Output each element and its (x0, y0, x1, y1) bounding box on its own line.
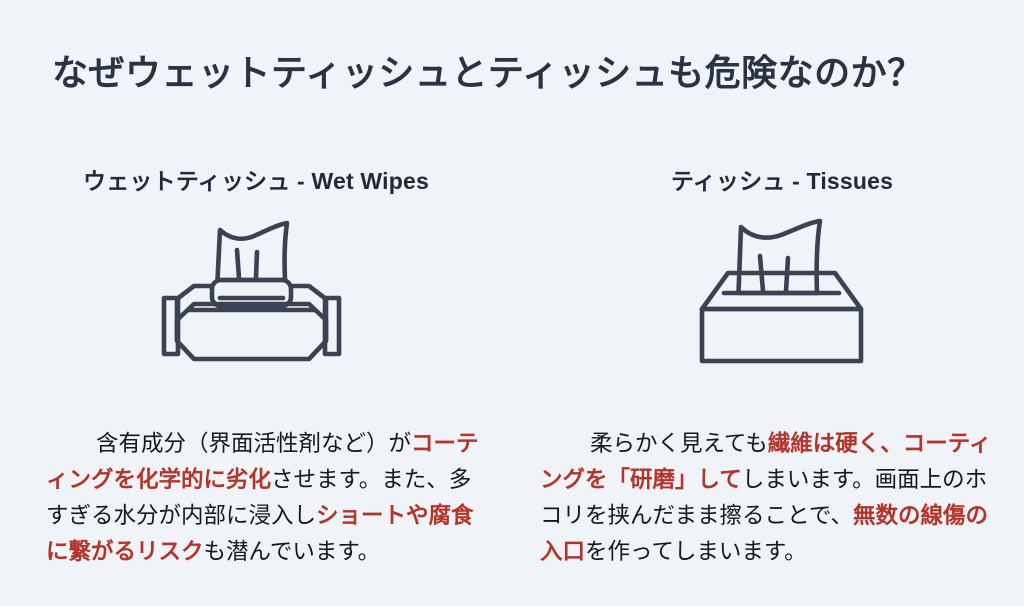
body-text-tissues: 柔らかく見えても繊維は硬く、コーティングを「研磨」してしまいます。画面上のホコリ… (540, 390, 992, 606)
page-title: なぜウェットティッシュとティッシュも危険なのか？ (52, 50, 992, 95)
column-wet-wipes: ウェットティッシュ - Wet Wipes (0, 148, 512, 568)
icon-container-wet-wipes (0, 210, 536, 370)
body-segment: を作ってしまいます。 (585, 539, 807, 564)
icon-container-tissues (512, 210, 1024, 370)
body-segment: も潜んでいます。 (204, 539, 381, 564)
body-text-wet-wipes: 含有成分（界面活性剤など）がコーティングを化学的に劣化させます。また、多すぎる水… (46, 390, 490, 606)
column-heading-tissues: ティッシュ - Tissues (512, 162, 1024, 196)
tissue-box-icon (684, 210, 884, 370)
wet-wipes-pack-icon (156, 210, 356, 370)
slide-root: なぜウェットティッシュとティッシュも危険なのか？ ウェットティッシュ - Wet… (0, 0, 1024, 576)
body-segment: 含有成分（界面活性剤など）が (96, 431, 411, 456)
comparison-columns: ウェットティッシュ - Wet Wipes (0, 148, 1024, 568)
body-segment: 柔らかく見えても (590, 431, 768, 456)
column-tissues: ティッシュ - Tissues (512, 148, 1024, 568)
column-heading-wet-wipes: ウェットティッシュ - Wet Wipes (0, 162, 530, 196)
